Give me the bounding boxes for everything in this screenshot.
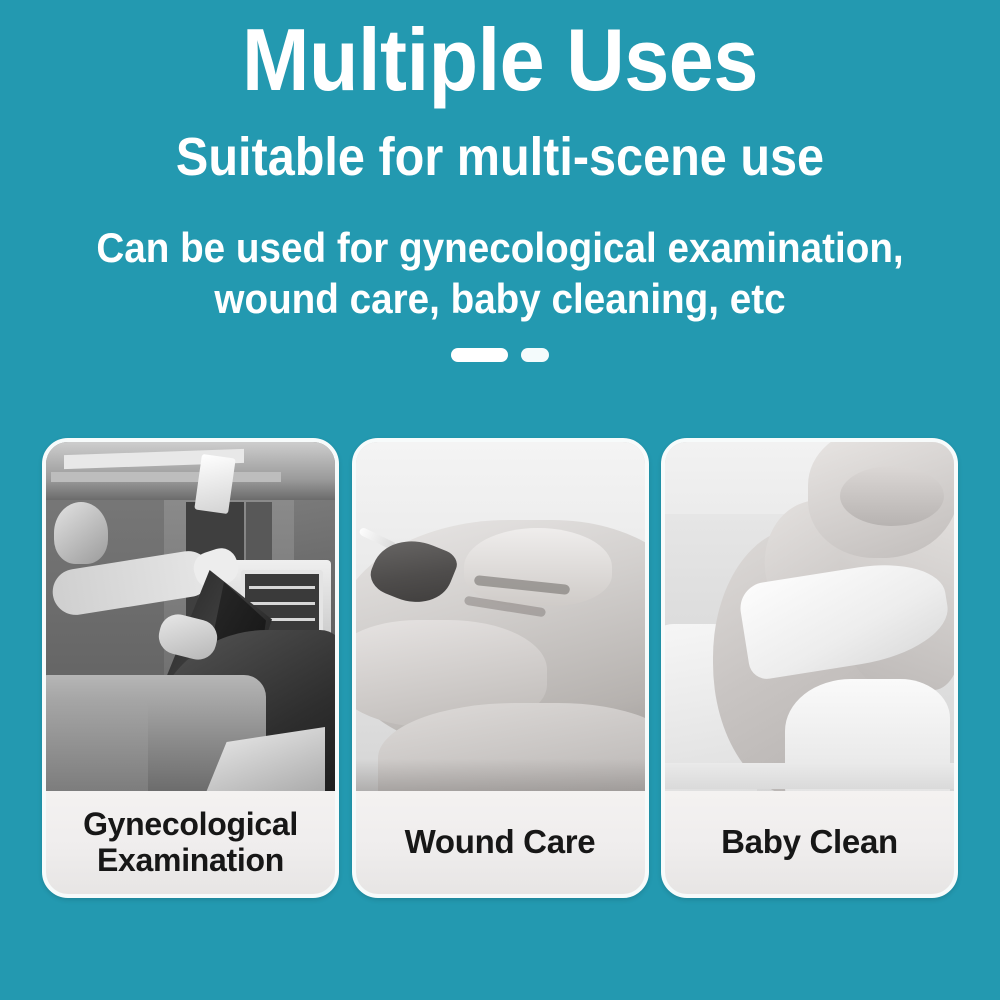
card-label-line-1: Gynecological (83, 806, 298, 842)
card-label-line-2: Examination (97, 842, 284, 878)
card-label-text: Wound Care (399, 824, 602, 861)
card-label-text: Baby Clean (715, 824, 904, 861)
multiple-uses-poster: Multiple Uses Suitable for multi-scene u… (0, 0, 1000, 1000)
pagination-dot-active[interactable] (451, 348, 508, 362)
use-case-card-wound-care[interactable]: Wound Care (352, 438, 649, 898)
use-case-card-row: Gynecological Examination (42, 438, 958, 898)
baby-clean-scene (665, 442, 954, 795)
card-label-band: Baby Clean (665, 791, 954, 894)
description-line-1: Can be used for gynecological examinatio… (68, 222, 933, 273)
gynecological-examination-photo (46, 442, 335, 795)
pagination-indicator[interactable] (0, 348, 1000, 362)
page-description: Can be used for gynecological examinatio… (68, 186, 933, 324)
wound-care-scene (356, 442, 645, 795)
exam-room-scene (46, 442, 335, 795)
page-subtitle: Suitable for multi-scene use (50, 106, 950, 186)
baby-clean-photo (665, 442, 954, 795)
header-block: Multiple Uses Suitable for multi-scene u… (0, 0, 1000, 324)
pagination-dot-inactive[interactable] (521, 348, 549, 362)
card-label-text: Gynecological Examination (77, 807, 304, 879)
wound-care-photo (356, 442, 645, 795)
page-title: Multiple Uses (40, 0, 960, 106)
use-case-card-gynecological-examination[interactable]: Gynecological Examination (42, 438, 339, 898)
use-case-card-baby-clean[interactable]: Baby Clean (661, 438, 958, 898)
card-label-band: Wound Care (356, 791, 645, 894)
description-line-2: wound care, baby cleaning, etc (68, 273, 933, 324)
card-label-band: Gynecological Examination (46, 791, 335, 894)
